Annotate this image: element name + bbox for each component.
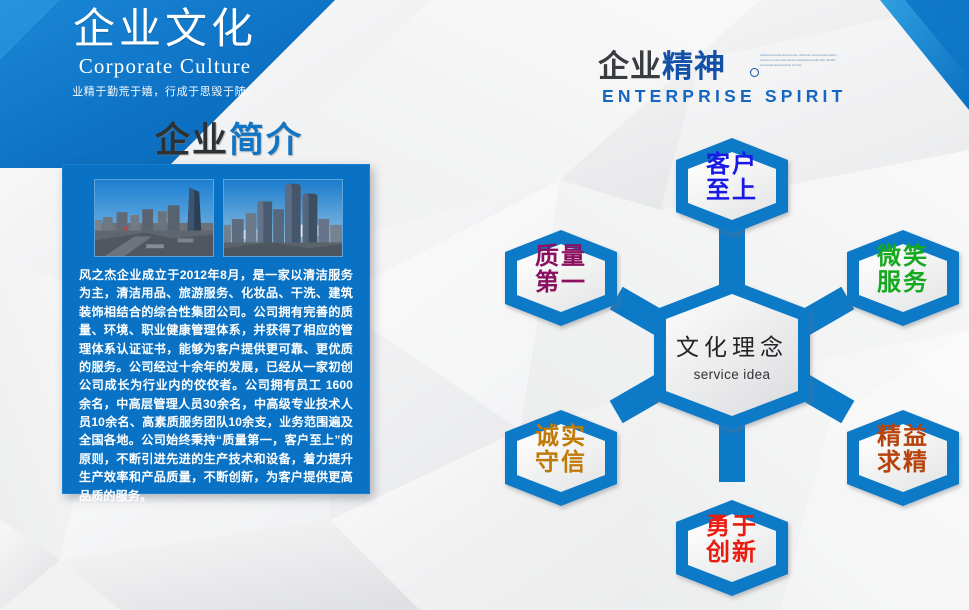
hex-center-label-en: service idea bbox=[632, 367, 832, 382]
hex-bottom-right bbox=[847, 410, 959, 506]
hex-bottom-left bbox=[505, 410, 617, 506]
spirit-heading-dark: 企业 bbox=[598, 49, 662, 84]
company-intro-text: 风之杰企业成立于2012年8月，是一家以清洁服务为主，清洁用品、旅游服务、化妆品… bbox=[63, 257, 369, 505]
section-heading-company-intro: 企业简介 bbox=[155, 112, 303, 163]
section-heading-dark: 企业 bbox=[155, 121, 229, 160]
hex-top-right bbox=[847, 230, 959, 326]
cityscape-photo-right bbox=[223, 179, 343, 257]
hex-bottom bbox=[676, 500, 788, 596]
circle-accent-icon bbox=[750, 68, 759, 77]
spirit-heading-blue: 精神 bbox=[662, 49, 726, 84]
culture-hexagon-diagram: 文化理念 service idea 客户 至上 微笑 服务 精益 求精 勇于 创… bbox=[495, 100, 969, 610]
slide-canvas: 企业文化 Corporate Culture 业精于勤荒于嬉，行成于思毁于随。 … bbox=[0, 0, 969, 610]
cityscape-photo-left bbox=[94, 179, 214, 257]
hex-center-label-cn: 文化理念 bbox=[632, 328, 832, 362]
hex-top-left bbox=[505, 230, 617, 326]
company-intro-card: 风之杰企业成立于2012年8月，是一家以清洁服务为主，清洁用品、旅游服务、化妆品… bbox=[62, 164, 370, 494]
photo-row bbox=[63, 165, 369, 257]
enterprise-spirit-heading: 企业精神 dfjkdscinwshldsktiwcnsckl dfsdfsert… bbox=[598, 50, 828, 107]
hex-top bbox=[676, 138, 788, 234]
section-heading-blue: 简介 bbox=[229, 121, 303, 160]
decorative-micro-text: dfjkdscinwshldsktiwcnsckl dfsdfsert kful… bbox=[760, 53, 838, 67]
